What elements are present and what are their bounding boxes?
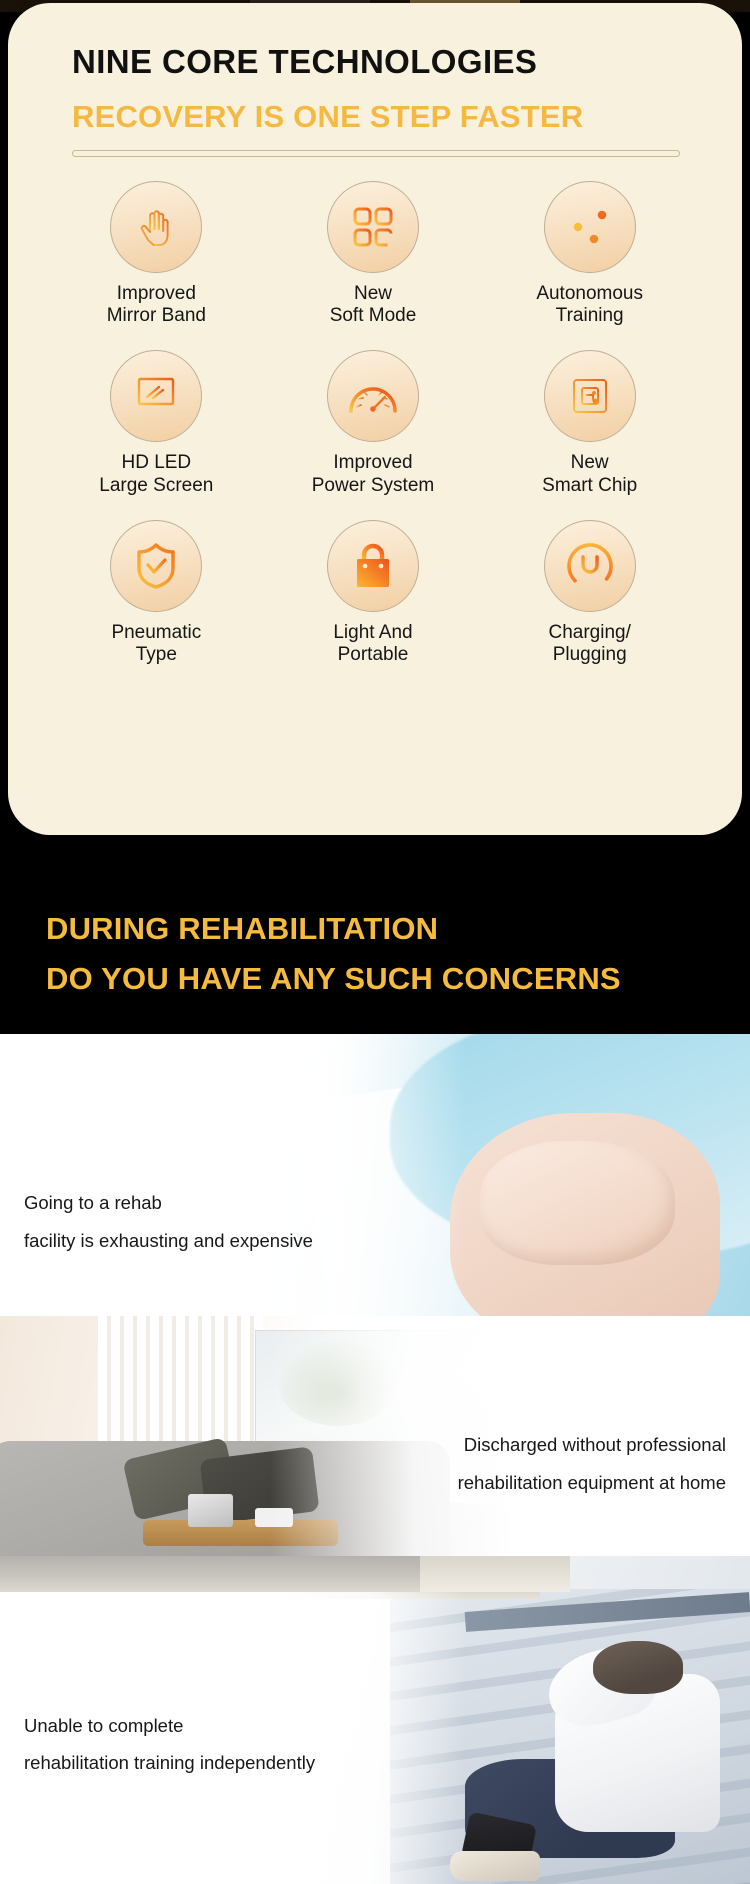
monitor-icon xyxy=(110,350,202,442)
hand-icon xyxy=(110,181,202,273)
grid-squares-icon xyxy=(327,181,419,273)
concern-panel-cannot-train-alone: Unable to complete rehabilitation traini… xyxy=(0,1556,750,1884)
feature-label: New Soft Mode xyxy=(330,283,417,327)
concern-text-line2: facility is exhausting and expensive xyxy=(24,1232,313,1251)
banner-headline-line1: DURING REHABILITATION xyxy=(46,911,438,947)
feature-label: New Smart Chip xyxy=(542,452,637,496)
feature-item[interactable]: Autonomous Training xyxy=(481,181,698,327)
concern-text-line2: rehabilitation training independently xyxy=(24,1754,315,1773)
sliders-icon xyxy=(544,181,636,273)
concern-panel-no-home-equipment: Discharged without professional rehabili… xyxy=(0,1316,750,1556)
feature-item[interactable]: Charging/ Plugging xyxy=(481,520,698,666)
feature-item[interactable]: New Soft Mode xyxy=(265,181,482,327)
feature-label: Improved Power System xyxy=(312,452,434,496)
feature-label: HD LED Large Screen xyxy=(99,452,213,496)
feature-item[interactable]: Pneumatic Type xyxy=(48,520,265,666)
feature-label: Light And Portable xyxy=(333,622,412,666)
clasped-hands-patient-photo xyxy=(0,1034,750,1316)
nine-core-technologies-card: NINE CORE TECHNOLOGIES RECOVERY IS ONE S… xyxy=(8,3,742,835)
concern-text-line1: Discharged without professional xyxy=(464,1436,726,1455)
feature-label: Charging/ Plugging xyxy=(548,622,630,666)
concern-text-line2: rehabilitation equipment at home xyxy=(458,1474,726,1493)
feature-label: Improved Mirror Band xyxy=(107,283,206,327)
banner-headline-line2: DO YOU HAVE ANY SUCH CONCERNS xyxy=(46,961,621,997)
shopping-bag-icon xyxy=(327,520,419,612)
feature-item[interactable]: Improved Mirror Band xyxy=(48,181,265,327)
concern-text-line1: Going to a rehab xyxy=(24,1194,162,1213)
power-plug-icon xyxy=(544,520,636,612)
feature-item[interactable]: HD LED Large Screen xyxy=(48,350,265,496)
feature-item[interactable]: Improved Power System xyxy=(265,350,482,496)
gauge-icon xyxy=(327,350,419,442)
feature-label: Pneumatic Type xyxy=(111,622,201,666)
page-title: NINE CORE TECHNOLOGIES xyxy=(72,43,537,81)
feature-item[interactable]: Light And Portable xyxy=(265,520,482,666)
feature-grid: Improved Mirror Band xyxy=(48,181,698,666)
page-subtitle: RECOVERY IS ONE STEP FASTER xyxy=(72,99,583,135)
chip-icon xyxy=(544,350,636,442)
concern-panel-rehab-facility: Going to a rehab facility is exhausting … xyxy=(0,1034,750,1316)
concerns-banner: DURING REHABILITATION DO YOU HAVE ANY SU… xyxy=(0,867,750,1034)
promo-page: NINE CORE TECHNOLOGIES RECOVERY IS ONE S… xyxy=(0,0,750,1884)
feature-label: Autonomous Training xyxy=(536,283,643,327)
title-divider xyxy=(72,150,680,157)
feature-item[interactable]: New Smart Chip xyxy=(481,350,698,496)
concern-text-line1: Unable to complete xyxy=(24,1717,183,1736)
shield-check-icon xyxy=(110,520,202,612)
